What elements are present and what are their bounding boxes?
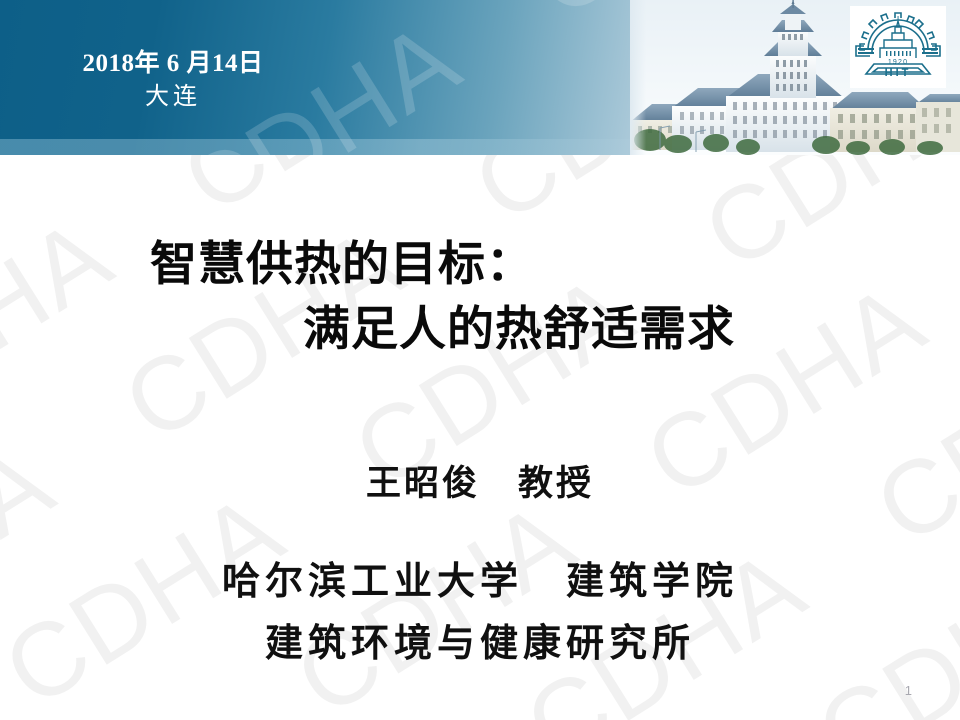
- author-block: 王昭俊 教授: [0, 455, 960, 506]
- slide-header-band: CDHA CDHA: [0, 0, 960, 155]
- title-line-1: 智慧供热的目标：: [0, 232, 960, 297]
- affiliation-line-1: 哈尔滨工业大学 建筑学院: [0, 552, 960, 614]
- watermark-text: CDHA: [0, 703, 241, 720]
- affiliation-block: 哈尔滨工业大学 建筑学院 建筑环境与健康研究所: [0, 552, 960, 675]
- logo-year-text: 1920: [888, 59, 908, 66]
- author-name: 王昭俊 教授: [0, 455, 960, 506]
- slide-title: 智慧供热的目标： 满足人的热舒适需求: [0, 232, 960, 362]
- title-line-2: 满足人的热舒适需求: [0, 297, 960, 362]
- page-number: 1: [905, 683, 912, 698]
- presentation-city: 大连: [58, 83, 288, 111]
- date-block: 2018年 6 月14日 大连: [58, 50, 288, 110]
- presentation-slide: CDHA CDHA CDHA CDHA CDHA CDHA CDHA CDHA …: [0, 0, 960, 720]
- logo-abbr-text: HIT: [885, 67, 912, 79]
- presentation-date: 2018年 6 月14日: [58, 50, 288, 79]
- affiliation-line-2: 建筑环境与健康研究所: [0, 614, 960, 676]
- hit-university-logo: 1920 HIT: [850, 6, 946, 88]
